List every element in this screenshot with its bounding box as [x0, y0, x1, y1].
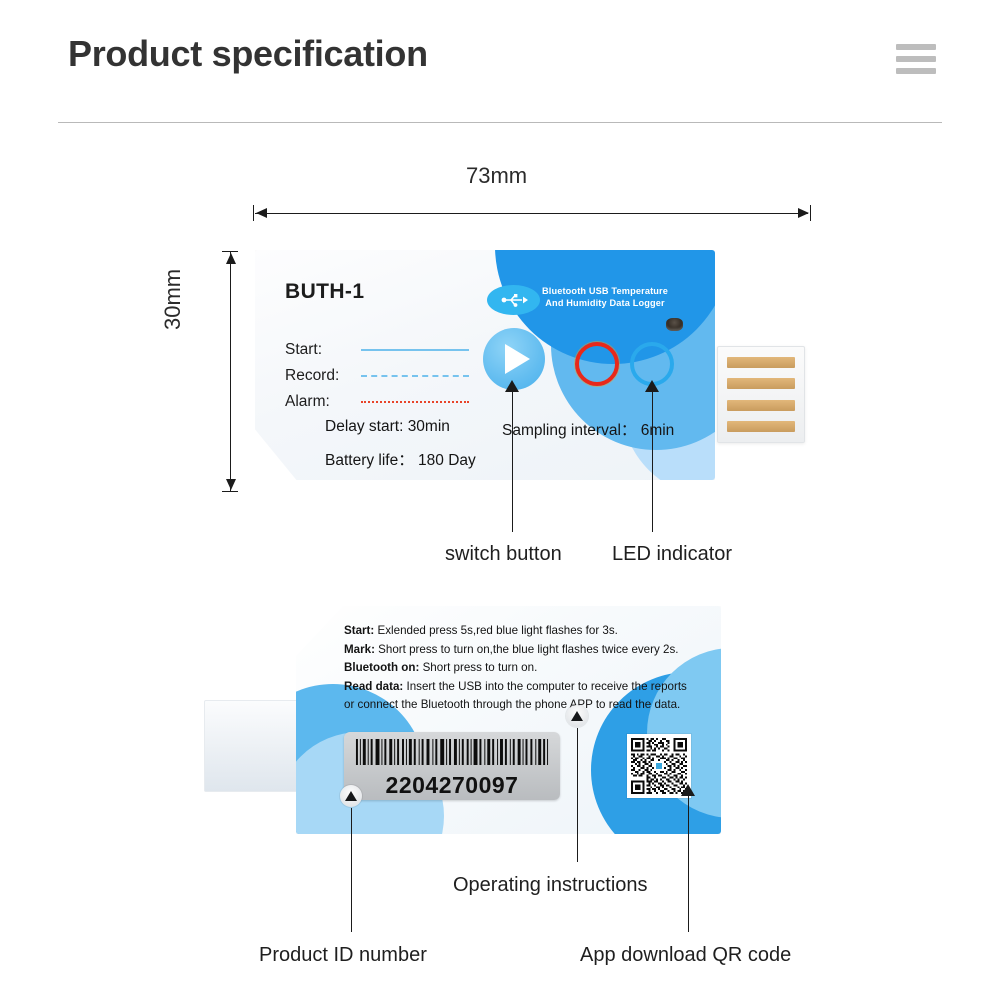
height-dimension-cap-top [222, 251, 238, 252]
width-arrow-left-icon [256, 208, 267, 218]
instruction-line-3: Bluetooth on: Short press to turn on. [344, 659, 706, 678]
instruction-text-readdata-cont: or connect the Bluetooth through the pho… [344, 698, 680, 711]
width-arrow-right-icon [798, 208, 809, 218]
battery-life-label: Battery life： 180 Day [325, 448, 476, 470]
instruction-label-mark: Mark: [344, 643, 375, 656]
page-title: Product specification [68, 33, 428, 75]
callout-label-led-indicator: LED indicator [612, 543, 732, 566]
callout-label-operating-instructions: Operating instructions [453, 874, 648, 897]
callout-marker-product-id [340, 785, 362, 807]
instruction-line-5: or connect the Bluetooth through the pho… [344, 696, 706, 715]
usb-contact-pad-1 [727, 357, 795, 368]
device-body: BUTH-1 Bluetooth USB Temperature And Hum… [255, 250, 715, 480]
status-legend: Start: Record: Alarm: [285, 337, 469, 415]
page-header: Product specification [0, 0, 1000, 122]
callout-label-qr-code: App download QR code [580, 944, 791, 967]
instruction-line-4: Read data: Insert the USB into the compu… [344, 678, 706, 697]
instruction-line-1: Start: Exlended press 5s,red blue light … [344, 622, 706, 641]
legend-row-record: Record: [285, 363, 469, 389]
height-dimension-label: 30mm [160, 269, 186, 330]
callout-arrow-switch-button-icon [505, 380, 519, 392]
instruction-text-start: Exlended press 5s,red blue light flashes… [378, 624, 618, 637]
legend-line-alarm [361, 401, 469, 403]
usb-contact-pad-4 [727, 421, 795, 432]
sampling-interval-label: Sampling interval： 6min [502, 418, 674, 440]
callout-arrow-led-indicator-icon [645, 380, 659, 392]
legend-row-start: Start: [285, 337, 469, 363]
usb-icon [487, 285, 540, 315]
usb-contact-pad-2 [727, 378, 795, 389]
legend-label-alarm: Alarm: [285, 393, 361, 411]
legend-label-record: Record: [285, 367, 361, 385]
legend-line-record [361, 375, 469, 377]
led-red-indicator [575, 342, 619, 386]
sensor-hole-icon [666, 318, 683, 331]
instruction-label-bluetooth: Bluetooth on: [344, 661, 419, 674]
height-dimension-line [230, 252, 231, 492]
product-id-number: 2204270097 [354, 770, 550, 800]
instruction-text-readdata: Insert the USB into the computer to rece… [407, 680, 687, 693]
callout-arrow-qr-code-icon [681, 784, 695, 796]
width-dimension-line [255, 213, 808, 214]
barcode-image [354, 739, 550, 765]
height-arrow-down-icon [226, 479, 236, 490]
marker-arrow-icon [345, 791, 357, 801]
usb-tab-back [204, 700, 309, 792]
callout-line-led-indicator [652, 386, 653, 532]
product-id-label: 2204270097 [344, 732, 560, 800]
width-dimension-label: 73mm [466, 163, 527, 189]
instruction-line-2: Mark: Short press to turn on,the blue li… [344, 641, 706, 660]
brand-line-2: And Humidity Data Logger [524, 298, 686, 310]
operating-instructions-text: Start: Exlended press 5s,red blue light … [344, 622, 706, 715]
hamburger-bar-1 [896, 44, 936, 50]
usb-connector [717, 346, 805, 443]
height-dimension-cap-bottom [222, 491, 238, 492]
height-arrow-up-icon [226, 253, 236, 264]
brand-line-1: Bluetooth USB Temperature [524, 286, 686, 298]
usb-contact-pad-3 [727, 400, 795, 411]
legend-line-start [361, 349, 469, 351]
callout-line-switch-button [512, 386, 513, 532]
hamburger-menu-icon[interactable] [896, 44, 936, 74]
instruction-label-start: Start: [344, 624, 374, 637]
callout-label-product-id: Product ID number [259, 944, 427, 967]
callout-line-qr-code [688, 790, 689, 932]
delay-start-label: Delay start: 30min [325, 418, 450, 436]
width-dimension-cap-right [810, 205, 811, 221]
instruction-label-readdata: Read data: [344, 680, 403, 693]
callout-label-switch-button: switch button [445, 543, 562, 566]
legend-label-start: Start: [285, 341, 361, 359]
device-front-image: BUTH-1 Bluetooth USB Temperature And Hum… [255, 250, 715, 480]
instruction-text-mark: Short press to turn on,the blue light fl… [378, 643, 678, 656]
product-specification-page: Product specification 73mm 30mm BUTH-1 B… [0, 0, 1000, 1000]
callout-line-product-id [351, 808, 352, 932]
instruction-text-bluetooth: Short press to turn on. [423, 661, 538, 674]
legend-row-alarm: Alarm: [285, 389, 469, 415]
device-model-label: BUTH-1 [285, 280, 364, 304]
device-brand-text: Bluetooth USB Temperature And Humidity D… [524, 286, 686, 309]
hamburger-bar-2 [896, 56, 936, 62]
header-divider [58, 122, 942, 123]
play-triangle-icon [505, 344, 530, 374]
width-dimension-cap-left [253, 205, 254, 221]
callout-marker-operating-instructions [566, 705, 588, 727]
callout-line-operating-instructions [577, 728, 578, 862]
hamburger-bar-3 [896, 68, 936, 74]
marker-arrow-icon [571, 711, 583, 721]
